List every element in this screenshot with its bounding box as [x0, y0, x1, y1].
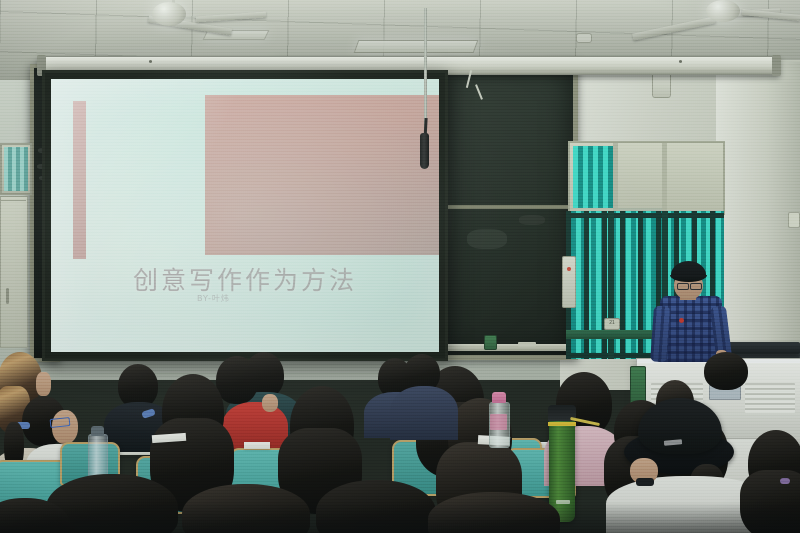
foreground-shadow	[0, 502, 800, 533]
lecture-hall-photo: 21 创意写作作为方法 BY-叶炜	[0, 0, 800, 533]
left-window	[0, 143, 32, 195]
projection-screen[interactable]: 创意写作作为方法 BY-叶炜	[42, 70, 448, 361]
slide-accent-bar	[73, 101, 86, 259]
slide-subtitle: BY-叶炜	[197, 293, 230, 304]
slide-title: 创意写作作为方法	[51, 261, 439, 297]
roller-screw	[679, 60, 682, 63]
window-blinds-icon	[573, 146, 613, 208]
chalk-smudge	[467, 229, 507, 249]
left-cabinet-handle	[6, 288, 9, 304]
left-cabinet-seam	[0, 200, 26, 201]
microphone-icon	[420, 133, 429, 169]
student-shoulders-navy	[390, 386, 458, 440]
handout-paper	[244, 442, 270, 449]
wristwatch-icon	[636, 478, 654, 486]
presenter-badge-icon	[679, 318, 684, 323]
room-number-sign: 21	[604, 318, 620, 330]
bottle-cap-icon	[91, 426, 104, 436]
slide-image-block	[205, 95, 439, 255]
right-window-upper	[568, 141, 725, 215]
glasses-icon	[677, 283, 689, 290]
bottle-cap-icon	[492, 392, 506, 403]
hair-band	[780, 478, 790, 484]
bottle-label	[490, 414, 507, 430]
thermos-band	[548, 422, 576, 426]
roller-screw	[149, 60, 152, 63]
left-cabinet	[0, 196, 28, 348]
left-window-blinds	[4, 147, 28, 191]
student-head	[704, 352, 748, 390]
wall-power-outlet	[788, 212, 800, 228]
audience-area	[0, 352, 800, 533]
student-head-red-hoodie	[216, 356, 258, 404]
bucket-hat	[638, 398, 722, 454]
blackboard-eraser	[518, 342, 536, 347]
student-hand	[36, 372, 51, 396]
status-led-icon	[567, 267, 571, 271]
window-mullion	[613, 143, 618, 213]
chalk-rail-center	[438, 344, 570, 351]
student-hand	[262, 394, 278, 412]
roller-bracket-right	[772, 55, 781, 76]
glasses-icon	[690, 283, 702, 290]
window-mullion	[662, 143, 667, 213]
window-bar-horizontal	[566, 213, 724, 218]
chalkboard-divider	[445, 205, 573, 209]
wall-control-box	[562, 256, 576, 308]
chalkboard-center	[440, 60, 578, 360]
chalk-smudge	[519, 215, 545, 225]
presentation-slide: 创意写作作为方法 BY-叶炜	[51, 79, 439, 352]
right-window-upper-glass	[573, 146, 613, 208]
chalk-box	[484, 335, 497, 350]
